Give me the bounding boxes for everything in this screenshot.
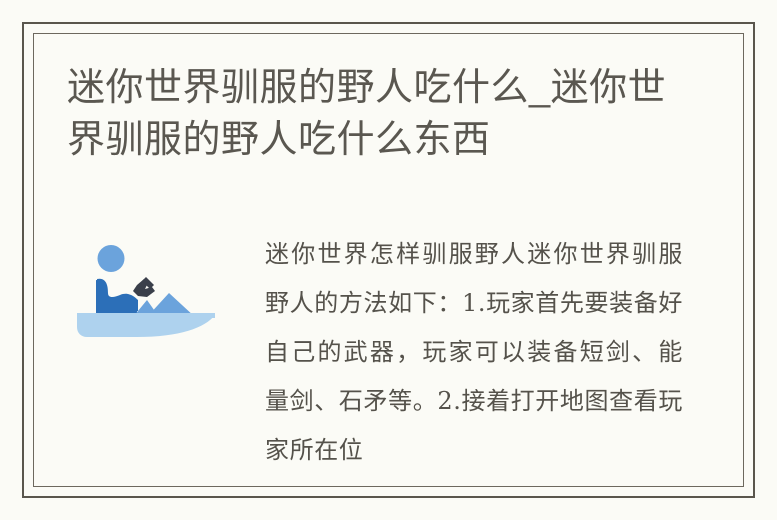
page-title: 迷你世界驯服的野人吃什么_迷你世界驯服的野人吃什么东西: [67, 62, 667, 166]
article-body-text: 迷你世界怎样驯服野人迷你世界驯服野人的方法如下：1.玩家首先要装备好自己的武器，…: [265, 230, 683, 475]
person-arm-shape: [97, 279, 138, 311]
boat-illustration-svg: [75, 245, 217, 337]
content-area: 迷你世界怎样驯服野人迷你世界驯服野人的方法如下：1.玩家首先要装备好自己的武器，…: [67, 210, 723, 466]
inner-border-frame: 迷你世界驯服的野人吃什么_迷你世界驯服的野人吃什么东西: [33, 33, 744, 487]
person-head-shape: [98, 245, 125, 272]
boat-hull-shape: [77, 315, 215, 337]
page-root: 迷你世界驯服的野人吃什么_迷你世界驯服的野人吃什么东西: [0, 0, 777, 520]
person-in-boat-illustration: [75, 245, 217, 337]
boat-deck-shape: [77, 313, 215, 318]
outer-border-frame: 迷你世界驯服的野人吃什么_迷你世界驯服的野人吃什么东西: [22, 22, 755, 498]
